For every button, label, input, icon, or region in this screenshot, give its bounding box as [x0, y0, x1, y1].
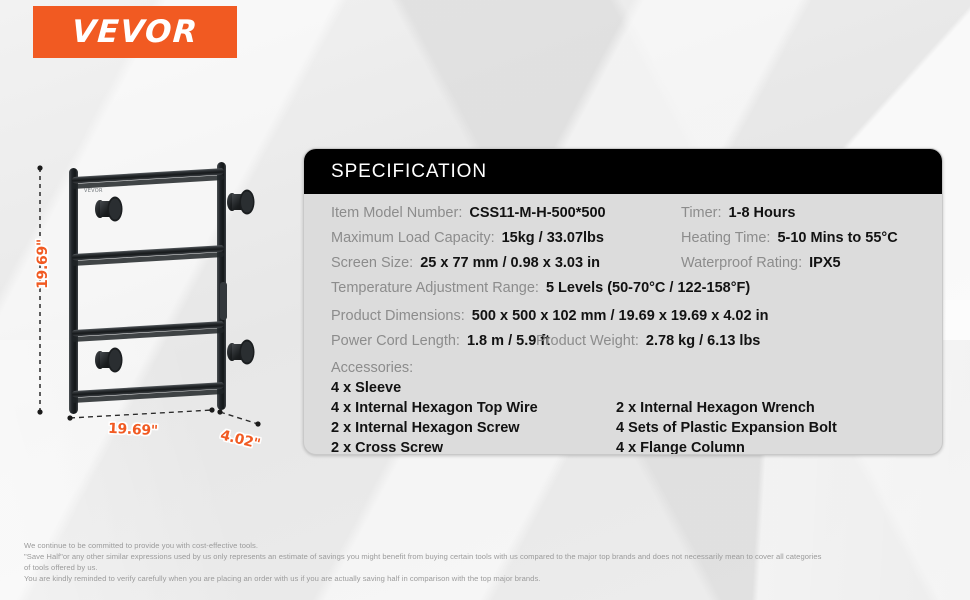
accessory-item: 2 x Internal Hexagon Wrench [616, 398, 942, 418]
spec-key: Maximum Load Capacity: [331, 230, 495, 246]
accessory-item: 4 x Internal Hexagon Top Wire [331, 398, 616, 418]
disclaimer-line: We continue to be committed to provide y… [24, 540, 949, 551]
spec-key: Temperature Adjustment Range: [331, 280, 539, 296]
disclaimer-line: of tools offered by us. [24, 562, 949, 573]
spec-value: 25 x 77 mm / 0.98 x 3.03 in [420, 255, 600, 271]
accessories-column-left: 4 x Sleeve 4 x Internal Hexagon Top Wire… [331, 378, 616, 455]
spec-temperature-adjustment-range: Temperature Adjustment Range: 5 Levels (… [331, 280, 942, 296]
wall-flange [95, 197, 123, 222]
accessory-item: 4 x Flange Column [616, 438, 942, 455]
spec-row: Temperature Adjustment Range: 5 Levels (… [304, 280, 942, 302]
footer-disclaimer: We continue to be committed to provide y… [24, 540, 949, 584]
spec-row: Item Model Number: CSS11-M-H-500*500 Tim… [304, 205, 942, 227]
spec-value: 5-10 Mins to 55°C [777, 230, 897, 246]
accessories-grid: 4 x Sleeve 4 x Internal Hexagon Top Wire… [331, 378, 942, 455]
spec-row: Screen Size: 25 x 77 mm / 0.98 x 3.03 in… [304, 255, 942, 277]
spec-key: Waterproof Rating: [681, 255, 802, 271]
wall-flange [227, 340, 255, 365]
vevor-wordmark: VEVOR [71, 14, 200, 50]
spec-waterproof-rating: Waterproof Rating: IPX5 [681, 255, 942, 271]
spec-heating-time: Heating Time: 5-10 Mins to 55°C [681, 230, 942, 246]
spec-maximum-load-capacity: Maximum Load Capacity: 15kg / 33.07lbs [331, 230, 681, 246]
spec-key: Product Weight: [536, 333, 639, 349]
spec-product-dimensions: Product Dimensions: 500 x 500 x 102 mm /… [331, 308, 942, 324]
spec-timer: Timer: 1-8 Hours [681, 205, 942, 221]
vevor-logo: VEVOR [33, 6, 237, 58]
spec-item-model-number: Item Model Number: CSS11-M-H-500*500 [331, 205, 681, 221]
spec-key: Item Model Number: [331, 205, 462, 221]
spec-row: Product Dimensions: 500 x 500 x 102 mm /… [304, 308, 942, 330]
product-image: VEVOR [22, 160, 297, 460]
spec-value: 500 x 500 x 102 mm / 19.69 x 19.69 x 4.0… [472, 308, 769, 324]
specification-body: Item Model Number: CSS11-M-H-500*500 Tim… [304, 194, 942, 454]
spec-row: Power Cord Length: 1.8 m / 5.9 ft Produc… [304, 333, 942, 355]
accessory-item: 4 Sets of Plastic Expansion Bolt [616, 418, 942, 438]
spec-key: Timer: [681, 205, 722, 221]
dimension-label-width: 19.69" [108, 421, 159, 440]
spec-power-cord-length: Power Cord Length: 1.8 m / 5.9 ft [331, 333, 506, 349]
disclaimer-line: "Save Half"or any other similar expressi… [24, 551, 949, 562]
specification-header: SPECIFICATION [304, 149, 942, 194]
spec-key: Power Cord Length: [331, 333, 460, 349]
spec-key: Heating Time: [681, 230, 770, 246]
spec-value: 15kg / 33.07lbs [502, 230, 604, 246]
wall-flange [95, 348, 123, 373]
control-panel-button [220, 282, 227, 320]
towel-warmer-illustration: VEVOR [22, 160, 297, 460]
spec-screen-size: Screen Size: 25 x 77 mm / 0.98 x 3.03 in [331, 255, 681, 271]
specification-panel: SPECIFICATION Item Model Number: CSS11-M… [303, 148, 943, 455]
wall-flange [227, 190, 255, 215]
dimension-label-height: 19.69" [35, 239, 51, 289]
accessories-column-right: 2 x Internal Hexagon Wrench 4 Sets of Pl… [616, 378, 942, 455]
accessory-item: 4 x Sleeve [331, 378, 616, 398]
svg-text:VEVOR: VEVOR [84, 188, 103, 194]
accessories-section: Accessories: 4 x Sleeve 4 x Internal Hex… [304, 360, 942, 455]
accessory-item: 2 x Internal Hexagon Screw [331, 418, 616, 438]
disclaimer-line: You are kindly reminded to verify carefu… [24, 573, 949, 584]
spec-row: Maximum Load Capacity: 15kg / 33.07lbs H… [304, 230, 942, 252]
spec-value: 5 Levels (50-70°C / 122-158°F) [546, 280, 750, 296]
accessories-spacer [616, 378, 942, 398]
specification-title: SPECIFICATION [331, 161, 487, 183]
accessory-item: 2 x Cross Screw [331, 438, 616, 455]
spec-key: Product Dimensions: [331, 308, 465, 324]
spec-key: Screen Size: [331, 255, 413, 271]
spec-value: IPX5 [809, 255, 840, 271]
spec-value: 2.78 kg / 6.13 lbs [646, 333, 760, 349]
spec-value: 1-8 Hours [729, 205, 796, 221]
accessories-title: Accessories: [331, 360, 942, 376]
spec-product-weight: Product Weight: 2.78 kg / 6.13 lbs [506, 333, 942, 349]
spec-value: CSS11-M-H-500*500 [469, 205, 605, 221]
